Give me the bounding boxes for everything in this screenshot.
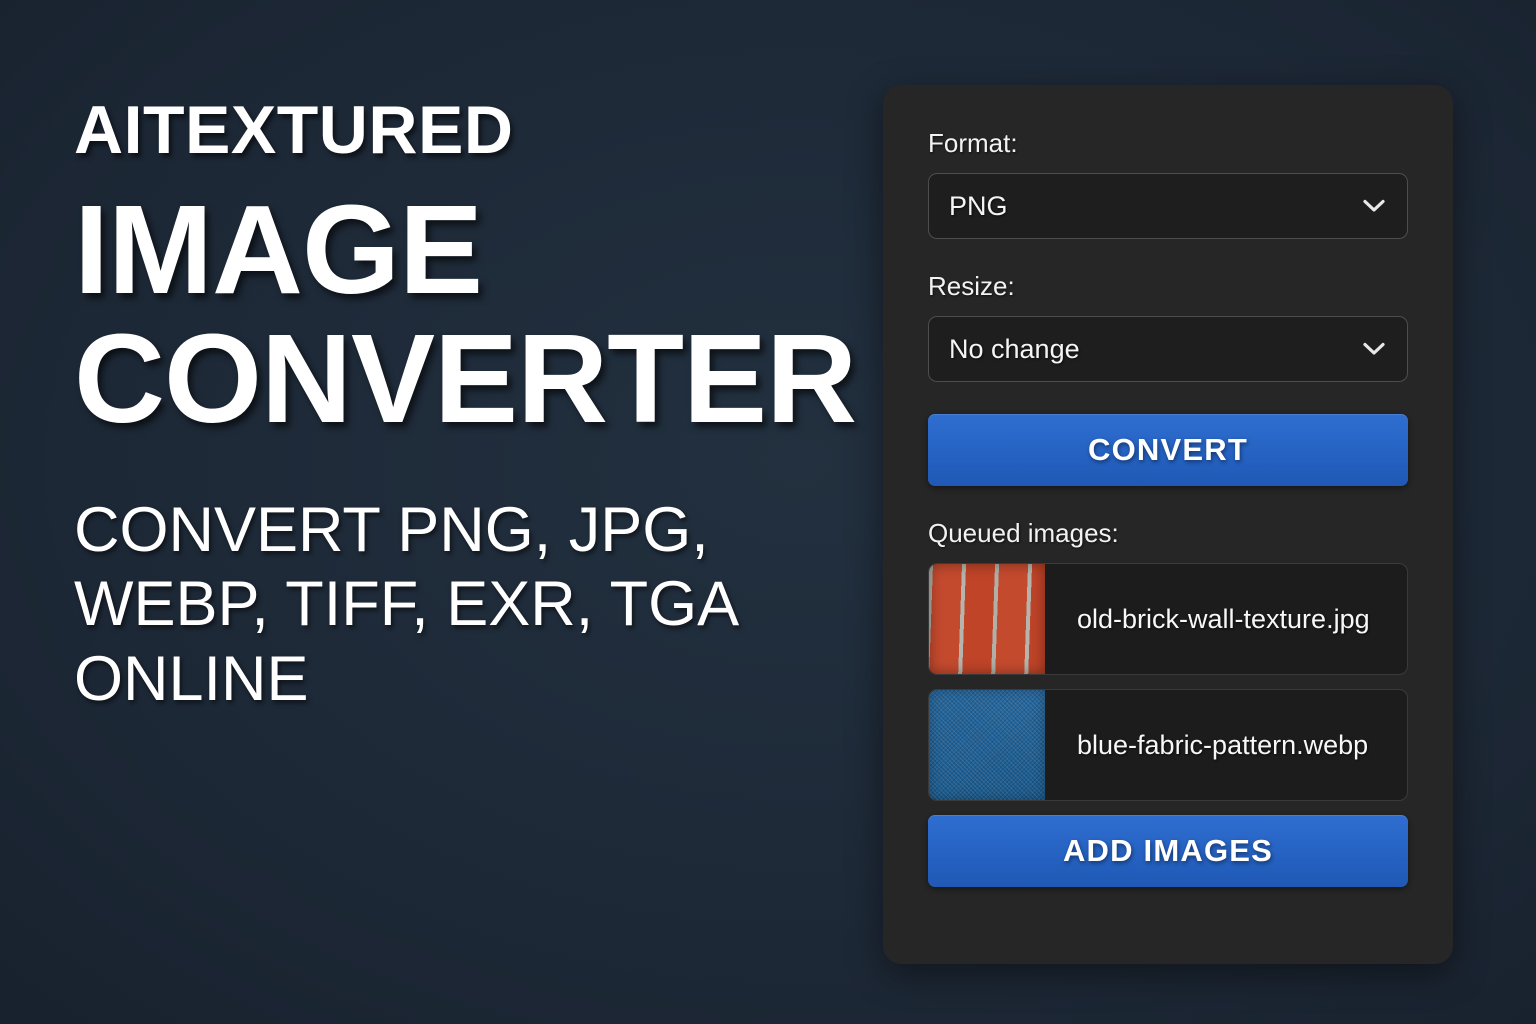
chevron-down-icon: [1363, 343, 1385, 356]
image-converter-panel: Format: PNG Resize: No change CONVERT Qu…: [883, 85, 1453, 964]
page-subtitle: CONVERT PNG, JPG, WEBP, TIFF, EXR, TGA O…: [74, 493, 904, 716]
page-title-line-2: CONVERTER: [74, 317, 904, 440]
queue-item-filename: blue-fabric-pattern.webp: [1045, 730, 1368, 761]
format-select[interactable]: PNG: [928, 173, 1408, 239]
hero-text-block: AITEXTURED IMAGE CONVERTER CONVERT PNG, …: [74, 96, 904, 716]
page-subtitle-line-1: CONVERT PNG, JPG,: [74, 493, 904, 567]
page-title-line-1: IMAGE: [74, 179, 482, 320]
page-subtitle-line-3: ONLINE: [74, 642, 904, 716]
format-label: Format:: [928, 128, 1408, 159]
resize-select[interactable]: No change: [928, 316, 1408, 382]
chevron-down-icon: [1363, 200, 1385, 213]
brand-name: AITEXTURED: [74, 96, 904, 164]
resize-label: Resize:: [928, 271, 1408, 302]
format-select-value: PNG: [949, 191, 1008, 222]
promo-graphic: Format: PNG Resize: No change CONVERT Qu…: [0, 0, 1536, 1024]
queued-images-label: Queued images:: [928, 518, 1408, 549]
convert-button[interactable]: CONVERT: [928, 414, 1408, 486]
page-subtitle-line-2: WEBP, TIFF, EXR, TGA: [74, 567, 904, 641]
add-images-button[interactable]: ADD IMAGES: [928, 815, 1408, 887]
queue-item[interactable]: old-brick-wall-texture.jpg: [928, 563, 1408, 675]
brick-texture-thumbnail: [929, 564, 1045, 674]
queue-item[interactable]: blue-fabric-pattern.webp: [928, 689, 1408, 801]
page-title: IMAGE CONVERTER: [74, 188, 904, 441]
queue-item-filename: old-brick-wall-texture.jpg: [1045, 604, 1370, 635]
fabric-texture-thumbnail: [929, 690, 1045, 800]
resize-select-value: No change: [949, 334, 1080, 365]
